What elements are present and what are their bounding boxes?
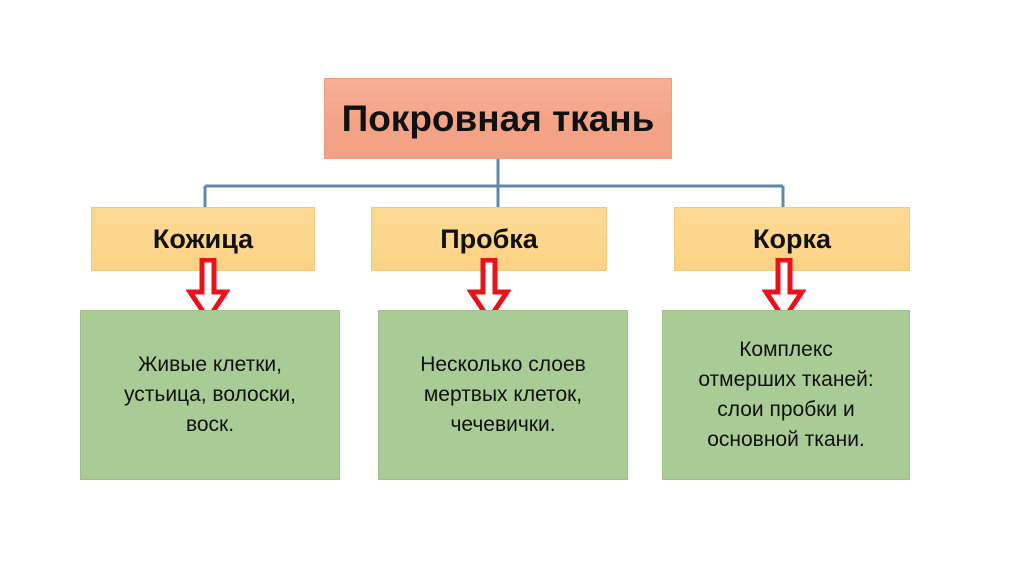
diagram-canvas: Покровная ткань Кожица Пробка Корка Живы… <box>0 0 1024 574</box>
description-text: Живые клетки, устьица, волоски, воск. <box>124 350 296 439</box>
category-label: Пробка <box>440 226 538 253</box>
description-text: Комплекс отмерших тканей: слои пробки и … <box>698 335 873 454</box>
description-box-kozhica[interactable]: Живые клетки, устьица, волоски, воск. <box>80 310 340 480</box>
description-text: Несколько слоев мертвых клеток, чечевичк… <box>420 350 586 439</box>
category-label: Корка <box>753 226 831 253</box>
root-node-label: Покровная ткань <box>342 100 655 137</box>
description-box-probka[interactable]: Несколько слоев мертвых клеток, чечевичк… <box>378 310 628 480</box>
description-box-korka[interactable]: Комплекс отмерших тканей: слои пробки и … <box>662 310 910 480</box>
root-node-covering-tissue[interactable]: Покровная ткань <box>324 78 672 159</box>
category-label: Кожица <box>153 226 253 253</box>
